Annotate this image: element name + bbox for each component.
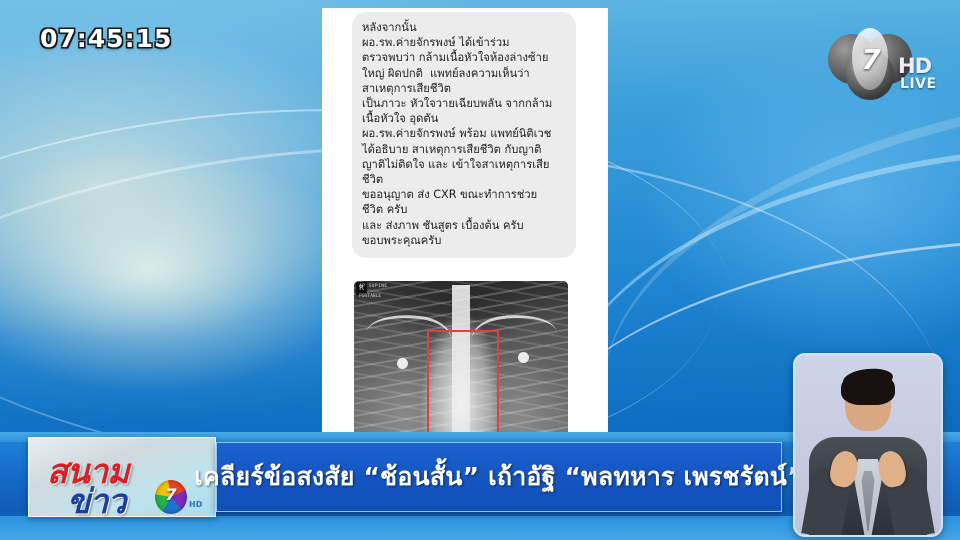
program-logo: สนาม ข่าว 7 HD (28, 437, 216, 517)
live-badge: LIVE (900, 76, 937, 92)
headline-banner: เคลียร์ข้อสงสัย “ช้อนสั้น” เถ้าอัฐิ “พลท… (216, 442, 782, 512)
on-screen-clock: 07:45:15 (40, 24, 172, 53)
program-logo-hd-badge: HD (189, 500, 202, 509)
broadcast-screen: 07:45:15 7 HD LIVE หลังจากนั้น ผอ.รพ.ค่า… (0, 0, 960, 540)
program-logo-ball-icon: 7 (155, 480, 187, 514)
chat-message-text: หลังจากนั้น ผอ.รพ.ค่ายจักรพงษ์ ได้เข้าร่… (362, 20, 566, 248)
xray-tag-line2: PORTABLE (359, 294, 381, 299)
headline-text: เคลียร์ข้อสงสัย “ช้อนสั้น” เถ้าอัฐิ “พลท… (194, 457, 803, 497)
chat-message-bubble: หลังจากนั้น ผอ.รพ.ค่ายจักรพงษ์ ได้เข้าร่… (352, 12, 576, 258)
program-logo-line2: ข่าว (67, 474, 125, 528)
channel-number: 7 (859, 46, 883, 76)
interpreter-hair (841, 371, 895, 405)
sign-language-interpreter-panel (793, 353, 943, 537)
xray-tag-line1: AP SUPINE (359, 284, 388, 289)
hd-badge: HD (898, 54, 931, 78)
background-glow (0, 150, 360, 390)
channel-logo: 7 HD LIVE (826, 22, 942, 100)
program-logo-ball-number: 7 (155, 485, 187, 504)
